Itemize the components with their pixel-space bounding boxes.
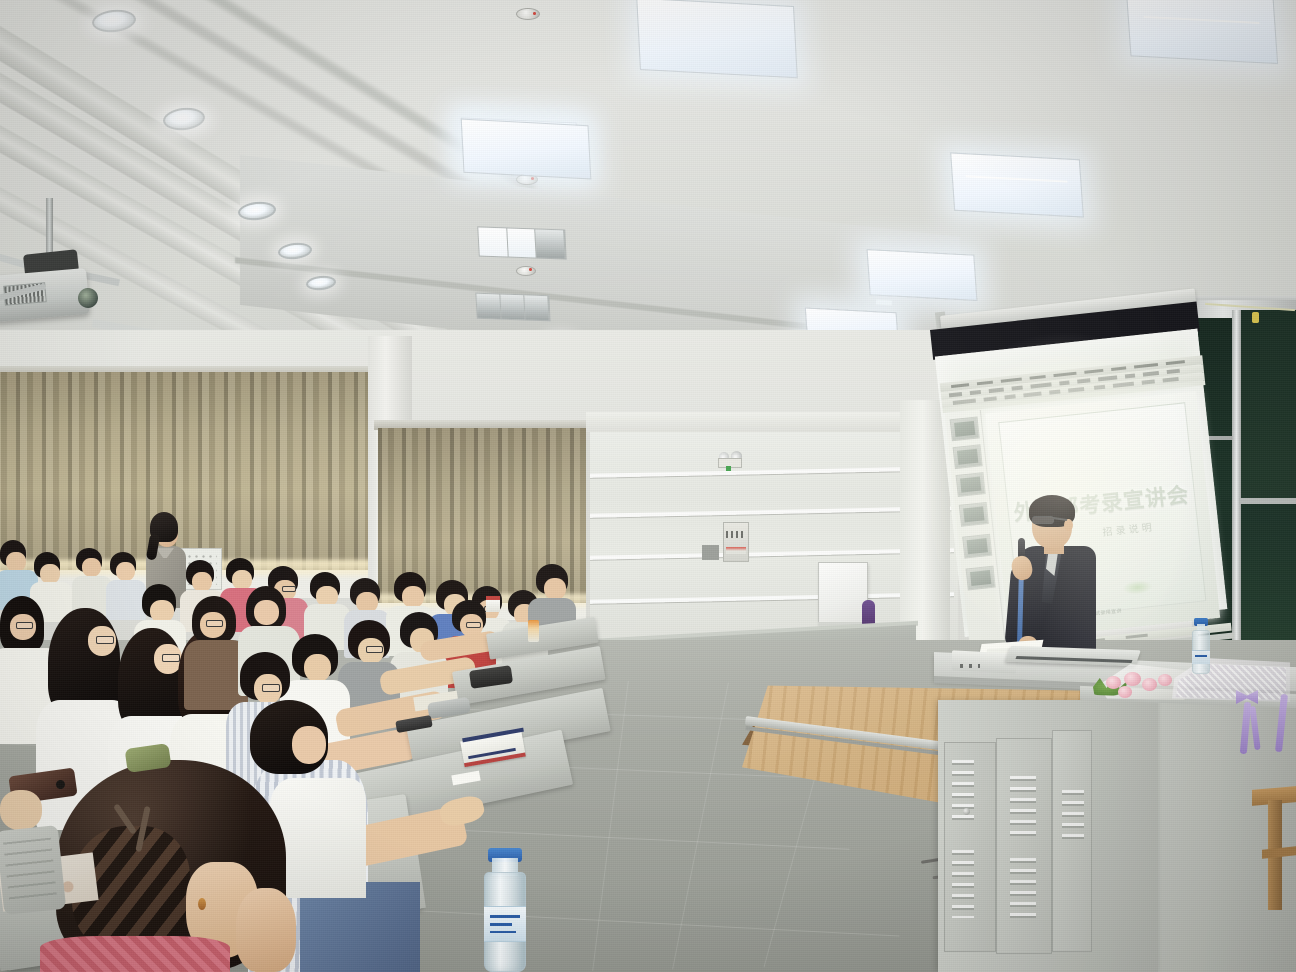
- mop-head-icon: [862, 600, 875, 626]
- audience-glasses-icon: [466, 622, 481, 628]
- slide-thumbnail[interactable]: [966, 566, 996, 591]
- projector-mount-pole: [46, 198, 53, 260]
- podium-vent: [1010, 858, 1036, 922]
- earring-icon: [198, 898, 206, 910]
- podium-vent: [1062, 790, 1084, 844]
- audience-glasses-icon: [262, 684, 280, 692]
- window-curtain: [0, 372, 398, 570]
- slide-thumbnail[interactable]: [956, 472, 986, 497]
- breaker-row: [726, 531, 746, 538]
- audience-glasses-icon: [96, 636, 114, 644]
- blackboard-panel: [1241, 310, 1296, 500]
- downlight-glow: [74, 0, 158, 48]
- audience-glasses-icon: [206, 620, 223, 627]
- slide-thumbnail[interactable]: [950, 416, 980, 441]
- ceiling-panel-light: [1126, 0, 1278, 64]
- slide-thumbnail[interactable]: [959, 502, 989, 527]
- podium-vent: [952, 850, 974, 918]
- emergency-light-led: [726, 466, 731, 471]
- audience-glasses-icon: [162, 654, 180, 662]
- lecture-hall-photo: 外交部考录宣讲会 招 录 说 明 外交部人事司 · 公务员考试录用宣讲: [0, 0, 1296, 972]
- audience-face: [254, 600, 279, 625]
- whiteboard: [818, 562, 868, 625]
- laptop-body[interactable]: [952, 650, 1016, 673]
- bouquet-flower: [1142, 678, 1157, 691]
- audience-face: [192, 572, 212, 592]
- wire-clip-icon: [1252, 312, 1259, 323]
- podium-lock-icon[interactable]: [963, 808, 970, 815]
- podium-vent: [1010, 776, 1036, 836]
- paper-cup: [486, 596, 500, 612]
- audience-glasses-icon: [282, 586, 296, 592]
- ceiling-panel-light: [636, 0, 798, 78]
- audience-hand: [0, 790, 42, 830]
- electrical-panel: [723, 522, 749, 562]
- audience-face: [402, 586, 424, 608]
- downlight-glow: [146, 98, 226, 144]
- bouquet-flower: [1124, 672, 1141, 686]
- water-bottle-label: [1192, 650, 1210, 664]
- ceiling-panel-light: [950, 152, 1084, 217]
- foreground-woman-hand: [236, 888, 296, 972]
- audience-face: [292, 726, 326, 764]
- smoke-detector-icon: [516, 8, 540, 20]
- breaker-row: [726, 547, 746, 554]
- chair-back-slots: [3, 838, 57, 901]
- ceiling-panel-light: [461, 119, 592, 180]
- audience-face: [82, 558, 101, 577]
- trim-light: [876, 299, 892, 305]
- louvered-light-fixture: [477, 226, 566, 259]
- water-bottle-label: [484, 906, 526, 942]
- slide-thumbnail[interactable]: [962, 534, 992, 559]
- audience-face: [116, 562, 135, 581]
- bouquet-flower: [1118, 686, 1132, 698]
- audience-face: [40, 564, 60, 584]
- laptop-ports: [960, 664, 980, 668]
- audience-glasses-icon: [16, 622, 33, 629]
- audience-glasses-icon: [366, 646, 383, 653]
- slide-thumbnail[interactable]: [953, 444, 983, 469]
- audience-face: [304, 654, 331, 682]
- wall-access-plate: [702, 545, 719, 560]
- juice-carton: [528, 620, 539, 642]
- audience-face: [6, 552, 26, 572]
- bouquet-flower: [1158, 674, 1172, 686]
- foreground-woman-top: [40, 936, 230, 972]
- speaker-glasses-icon: [1032, 516, 1054, 524]
- audience-face: [544, 578, 566, 600]
- ceiling-panel-light: [867, 249, 978, 301]
- audience-torso: [106, 580, 146, 620]
- louvered-light-fixture: [475, 293, 550, 322]
- audience-face: [232, 570, 252, 590]
- smoke-detector-icon: [516, 266, 536, 276]
- blackboard-divider: [1232, 310, 1241, 670]
